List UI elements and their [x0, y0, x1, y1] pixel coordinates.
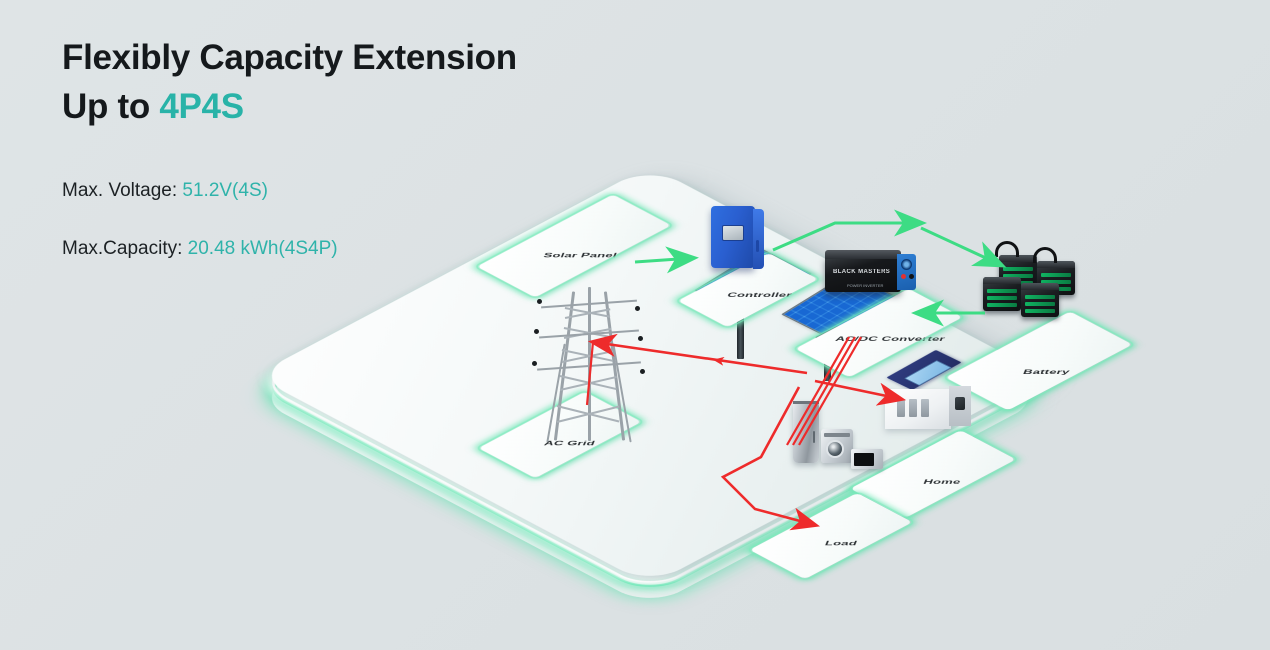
flow-ac-trunk-2 [793, 337, 855, 445]
flow-ac-trunk-3 [799, 337, 861, 445]
flow-ac-grid-drop [587, 342, 593, 405]
flow-ac-to-grid [593, 342, 807, 373]
flow-controller-to-converter [773, 223, 921, 250]
page-title-line1: Flexibly Capacity Extension [62, 36, 582, 81]
system-diagram-stage: Solar Panel Controller AC/DC Converter B… [195, 105, 1270, 645]
spec-label-voltage: Max. Voltage: [62, 180, 182, 201]
flow-converter-to-battery [921, 228, 1001, 265]
flow-ac-to-load [723, 387, 815, 525]
spec-label-capacity: Max.Capacity: [62, 238, 188, 259]
energy-flow-lines [195, 105, 1270, 645]
flow-solar-to-controller [635, 258, 693, 262]
page-title-line2-prefix: Up to [62, 87, 159, 126]
